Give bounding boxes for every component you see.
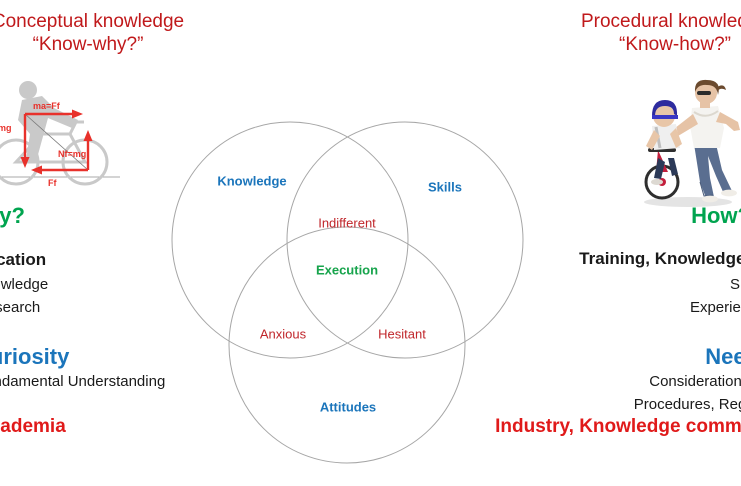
left-panel-title: Conceptual knowledge “Know-why?” [0, 10, 218, 56]
left-bold-line: Education [0, 250, 46, 270]
venn-label-indifferent: Indifferent [318, 216, 376, 231]
slide-canvas: Conceptual knowledge “Know-why?” [0, 0, 741, 486]
force-label-ma-ff: ma=Ff [33, 101, 61, 111]
venn-label-attitudes: Attitudes [320, 400, 376, 415]
left-title-line-2: “Know-why?” [0, 33, 218, 56]
venn-label-skills: Skills [428, 180, 462, 195]
right-title-line-2: “Know-how?” [530, 33, 741, 56]
left-plain-line-0: Knowledge [0, 276, 48, 293]
venn-label-knowledge: Knowledge [217, 174, 286, 189]
right-panel-title: Procedural knowledge “Know-how?” [530, 10, 741, 56]
left-driver-header: Curiosity [0, 344, 69, 370]
left-driver-line: Fundamental Understanding [0, 373, 165, 390]
left-domain-footer: Academia [0, 416, 66, 438]
cyclist-free-body-diagram: ma=Ff mg Nf=mg Ff [0, 78, 122, 190]
venn-label-anxious: Anxious [260, 327, 306, 342]
force-label-ff: Ff [48, 178, 57, 188]
venn-circle-skills [287, 122, 523, 358]
parent-teaching-child-to-ride-bike-photo [634, 78, 741, 208]
venn-label-hesitant: Hesitant [378, 327, 426, 342]
venn-circles [170, 105, 525, 480]
right-title-line-1: Procedural knowledge [530, 10, 741, 33]
ksa-venn-diagram: Knowledge Skills Attitudes Indifferent A… [170, 105, 525, 480]
venn-label-execution: Execution [316, 263, 378, 278]
left-plain-line-1: Research [0, 299, 40, 316]
left-question-header: Why? [0, 203, 25, 229]
left-title-line-1: Conceptual knowledge [0, 10, 218, 33]
venn-circle-knowledge [172, 122, 408, 358]
force-label-nf-mg: Nf=mg [58, 149, 86, 159]
force-label-mg: mg [0, 123, 12, 133]
